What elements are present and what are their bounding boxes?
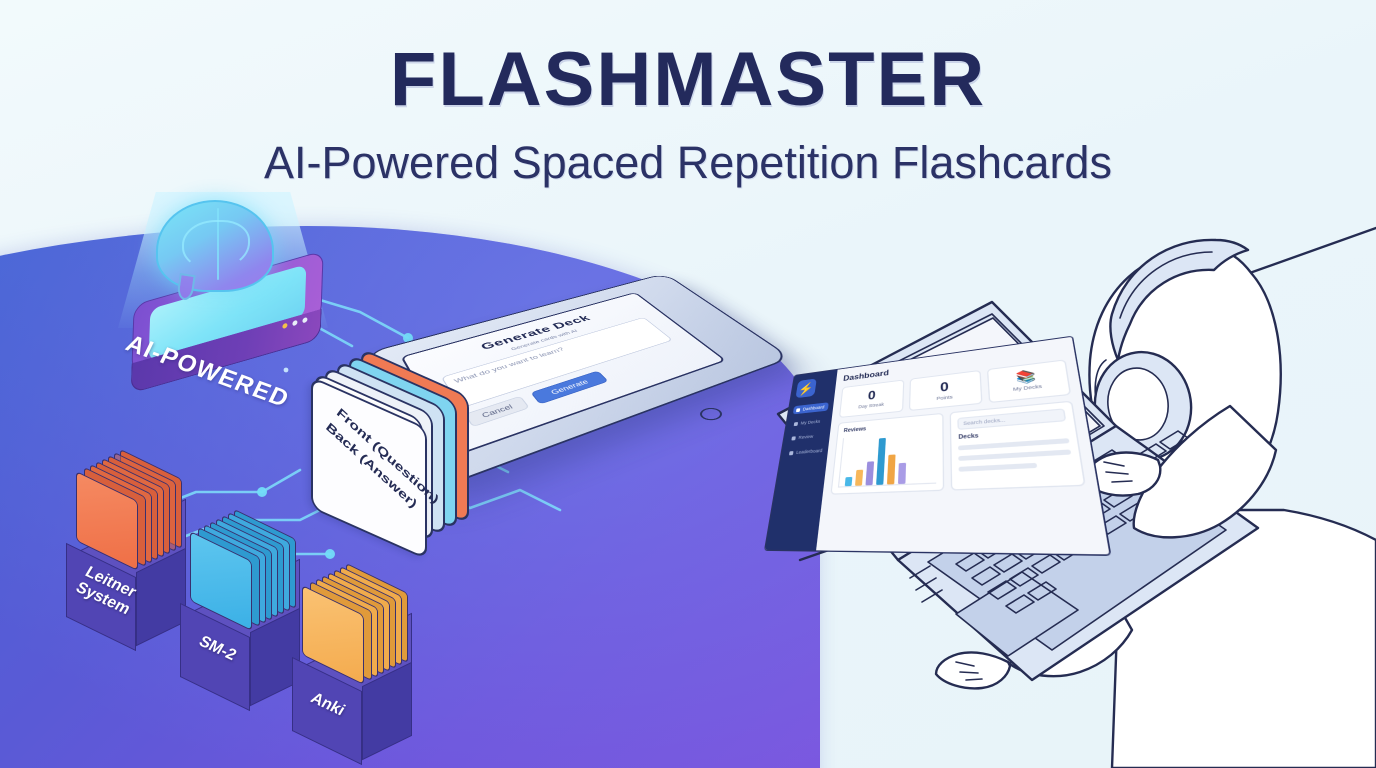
sidebar-item-label: Review [798, 434, 813, 440]
sidebar-item-dashboard[interactable]: Dashboard [793, 402, 829, 414]
header: FLASHMASTER AI-Powered Spaced Repetition… [0, 42, 1376, 185]
chart-bar [865, 461, 874, 485]
sidebar-item-label: My Decks [800, 419, 820, 426]
decks-panel: Search decks... Decks [950, 401, 1086, 491]
deck-list-item[interactable] [959, 438, 1070, 450]
deck-list-item[interactable] [959, 449, 1071, 460]
lightning-bolt-icon: ⚡ [795, 378, 816, 398]
flashcard-stack: Front (Question) Back (Answer) [305, 386, 505, 556]
sidebar-item-label: Dashboard [803, 405, 825, 412]
dashboard-main: Dashboard 0 Day Streak 0 Points 📚 My Dec… [816, 337, 1109, 555]
sidebar-nav: Dashboard My Decks Review Leaderboard [786, 402, 829, 457]
page-title: FLASHMASTER [0, 42, 1376, 118]
cards-icon [794, 422, 798, 426]
grid-icon [796, 408, 800, 412]
chart-bar [887, 454, 896, 484]
sidebar-item-leaderboard[interactable]: Leaderboard [786, 446, 824, 458]
stat-card-my-decks[interactable]: 📚 My Decks [986, 359, 1071, 403]
brain-hologram-icon [156, 200, 274, 292]
stat-card-points[interactable]: 0 Points [909, 370, 982, 411]
illustration-stage: FLASHMASTER AI-Powered Spaced Repetition… [0, 0, 1376, 768]
sidebar-item-label: Leaderboard [796, 448, 823, 455]
bar-chart [838, 431, 937, 488]
reviews-chart-panel: Reviews [830, 413, 944, 495]
chart-bar [845, 477, 853, 486]
chart-bar [898, 463, 906, 484]
refresh-icon [791, 436, 796, 440]
page-subtitle: AI-Powered Spaced Repetition Flashcards [0, 140, 1376, 185]
chart-bar [876, 438, 886, 485]
flashcard-back-label: Back (Answer) [322, 418, 441, 531]
trophy-icon [789, 451, 794, 455]
chart-bar [855, 470, 863, 486]
tablet-home-button[interactable] [696, 406, 726, 423]
stat-card-day-streak[interactable]: 0 Day Streak [839, 379, 905, 418]
sidebar-item-review[interactable]: Review [788, 431, 825, 443]
deck-list-item[interactable] [959, 463, 1037, 472]
laptop-and-person-scene: ⚡ Dashboard My Decks Review [760, 210, 1376, 768]
sidebar-item-my-decks[interactable]: My Decks [790, 416, 827, 428]
